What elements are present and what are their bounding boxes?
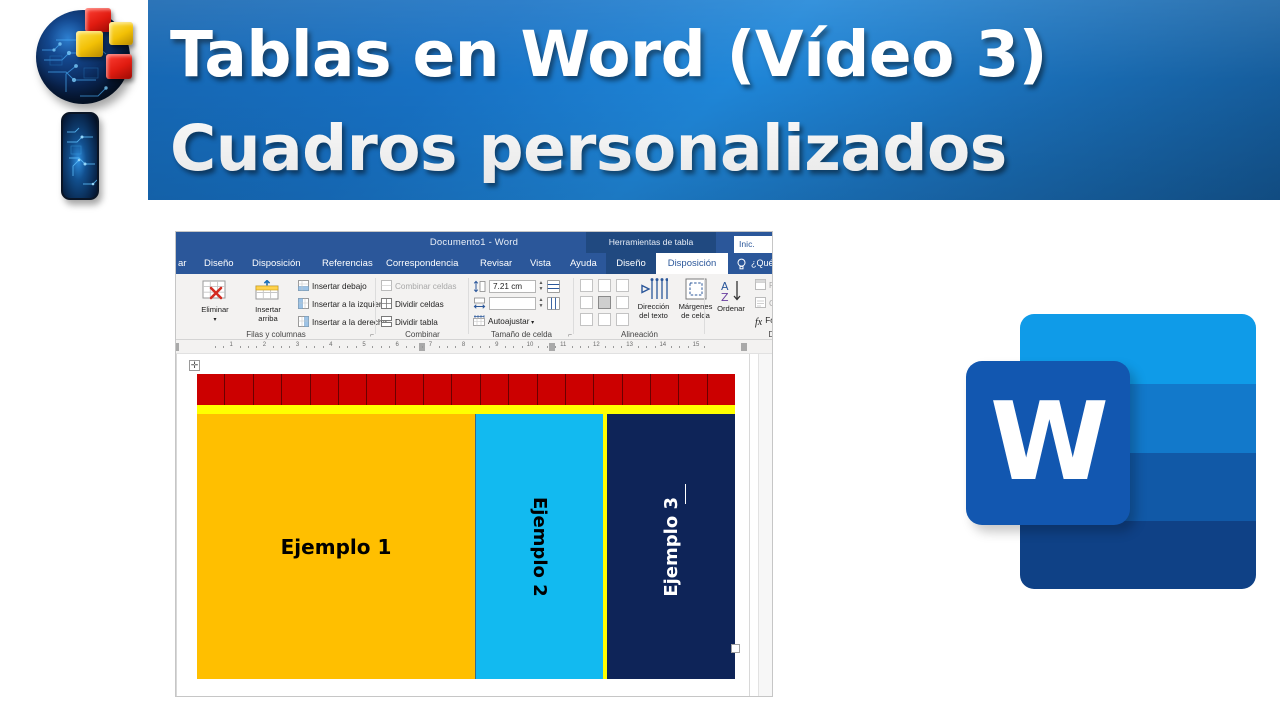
align-middle-left-button[interactable] (580, 296, 593, 309)
ruler-tick-label: 5 (362, 342, 365, 348)
ruler-tick (538, 346, 539, 348)
phone-circuit-pattern-icon (63, 114, 99, 200)
tab-inicio[interactable]: ar (176, 253, 192, 274)
ruler-strip: 123456789101112131415 (176, 340, 772, 354)
table-header-cell[interactable] (566, 374, 594, 405)
banner-title: Tablas en Word (Vídeo 3) Cuadros persona… (170, 8, 1270, 196)
banner-title-line1: Tablas en Word (Vídeo 3) (170, 18, 1047, 91)
ruler-tick (671, 346, 672, 348)
cell-width-input[interactable] (489, 297, 536, 310)
align-top-right-button[interactable] (616, 279, 629, 292)
document-table[interactable]: Ejemplo 1 Ejemplo 2 Ejemplo 3 (197, 374, 735, 679)
split-table-label: Dividir tabla (395, 318, 438, 327)
ruler-tick (422, 346, 423, 348)
ruler-tick-label: 12 (593, 342, 600, 348)
ruler-tick (613, 346, 614, 348)
tab-vista[interactable]: Vista (524, 253, 557, 274)
svg-text:Z: Z (721, 291, 729, 303)
channel-logo (14, 2, 146, 210)
tab-correspondencia[interactable]: Correspondencia (380, 253, 464, 274)
insert-below-label: Insertar debajo (312, 282, 367, 291)
text-cursor (685, 484, 686, 504)
table-header-row[interactable] (197, 374, 735, 405)
autofit-icon (473, 315, 485, 326)
ruler-tick (406, 346, 407, 348)
text-direction-label2: del texto (639, 311, 668, 320)
ruler-tick (240, 346, 241, 348)
ruler-tick (638, 346, 639, 348)
ruler-tick (547, 346, 548, 348)
table-header-cell[interactable] (679, 374, 707, 405)
ruler-tick-label: 15 (693, 342, 700, 348)
banner-title-line2: Cuadros personalizados (170, 102, 1270, 196)
contextual-tools-label: Herramientas de tabla (586, 232, 716, 253)
ruler-tick (223, 346, 224, 348)
autofit-item[interactable]: Autoajustar ▾ (473, 315, 534, 329)
ruler-tick (688, 346, 689, 348)
ruler-tick (605, 346, 606, 348)
ruler-tick (389, 346, 390, 348)
table-header-cell[interactable] (452, 374, 480, 405)
convert-to-text-icon (755, 297, 766, 308)
cell-width-stepper[interactable]: ▲▼ (537, 297, 545, 309)
align-top-left-button[interactable] (580, 279, 593, 292)
table-header-cell[interactable] (651, 374, 679, 405)
ruler-tick (306, 346, 307, 348)
ruler-tick (347, 346, 348, 348)
logo-cube-red-bottom-icon (106, 54, 132, 79)
ruler-tick (489, 346, 490, 348)
ruler-tick-label: 11 (560, 342, 566, 348)
ruler-tick (472, 346, 473, 348)
ruler-tick (480, 346, 481, 348)
merge-cells-icon (381, 280, 392, 291)
split-cells-label: Dividir celdas (395, 300, 444, 309)
table-header-cell[interactable] (282, 374, 310, 405)
formula-icon: fx (755, 317, 762, 329)
convert-to-text-label: Con (769, 299, 772, 308)
ruler-tick (580, 346, 581, 348)
table-header-cell[interactable] (623, 374, 651, 405)
tab-referencias[interactable]: Referencias (316, 253, 379, 274)
table-header-cell[interactable] (481, 374, 509, 405)
ruler-tick (372, 346, 373, 348)
repeat-header-rows-item[interactable]: Repe (755, 279, 772, 292)
insert-right-icon (298, 316, 309, 327)
ruler-tick-label: 1 (230, 342, 233, 348)
table-resize-handle[interactable] (731, 644, 740, 653)
logo-cube-red-top-icon (85, 8, 111, 32)
ruler-tick-label: 6 (396, 342, 399, 348)
logo-cube-yellow-left-icon (76, 31, 103, 57)
ruler-tick (281, 346, 282, 348)
ruler-tick (621, 346, 622, 348)
screenshot-root: Tablas en Word (Vídeo 3) Cuadros persona… (0, 0, 1280, 720)
ruler-tick (314, 346, 315, 348)
table-cell-2-text: Ejemplo 2 (529, 497, 550, 597)
ruler-tick (323, 346, 324, 348)
align-top-center-button[interactable] (598, 279, 611, 292)
ruler-tick (256, 346, 257, 348)
merge-cells-item[interactable]: Combinar celdas (381, 280, 456, 293)
table-divider-row[interactable] (197, 405, 735, 414)
table-cell-3-text: Ejemplo 3 (661, 497, 682, 597)
delete-button-label: Eliminar (201, 305, 228, 314)
autofit-label: Autoajustar (488, 317, 529, 326)
ruler-tick (273, 346, 274, 348)
ruler-tick-label: 3 (296, 342, 299, 348)
ribbon-group-filas-y-columnas: Eliminar ▾ Insertar arriba (176, 274, 376, 340)
distribute-rows-icon[interactable] (547, 280, 560, 293)
formula-label: Fórm (765, 316, 772, 325)
logo-phone-icon (61, 112, 99, 200)
table-cell-ejemplo-3[interactable]: Ejemplo 3 (603, 414, 735, 679)
repeat-header-rows-icon (755, 279, 766, 290)
ruler-tick-label: 9 (495, 342, 498, 348)
ribbon-tab-bar: ar Diseño Disposición Referencias Corres… (176, 253, 772, 274)
ruler-tick-label: 10 (527, 342, 534, 348)
ruler-tick-label: 8 (462, 342, 465, 348)
row-height-icon[interactable] (473, 280, 486, 293)
group-label-filas-y-columnas: Filas y columnas (176, 330, 376, 339)
word-application-window: Documento1 - Word Herramientas de tabla … (176, 232, 772, 696)
ruler-tick (447, 346, 448, 348)
align-middle-center-button[interactable] (598, 296, 611, 309)
group-label-combinar: Combinar (376, 330, 469, 339)
insert-above-label2: arriba (258, 314, 277, 323)
text-direction-button[interactable]: Dirección del texto (632, 277, 675, 320)
page-right-margin-line (749, 354, 750, 696)
ribbon-group-alineacion: Dirección del texto Márgenes de celda Al… (574, 274, 705, 340)
table-header-cell[interactable] (197, 374, 225, 405)
table-header-cell[interactable] (396, 374, 424, 405)
ruler-tick (381, 346, 382, 348)
sort-button[interactable]: A Z Ordenar (709, 279, 753, 314)
insert-below-item[interactable]: Insertar debajo (298, 280, 367, 293)
ruler-tick (289, 346, 290, 348)
formula-item[interactable]: fxFórm (755, 315, 772, 329)
ruler-tick (339, 346, 340, 348)
document-page-area: ✛ Ejemplo 1 Ejemplo 2 Ejemplo 3 (176, 354, 772, 696)
tab-tabla-diseno[interactable]: Diseño (606, 253, 656, 274)
ruler-tick (505, 346, 506, 348)
table-content-row[interactable]: Ejemplo 1 Ejemplo 2 Ejemplo 3 (197, 414, 735, 679)
align-bottom-left-button[interactable] (580, 313, 593, 326)
vertical-scrollbar[interactable] (758, 354, 772, 696)
table-header-cell[interactable] (594, 374, 622, 405)
ruler-tick (572, 346, 573, 348)
ruler-tick (555, 346, 556, 348)
lightbulb-icon (736, 258, 747, 270)
insert-right-item[interactable]: Insertar a la derecha (298, 316, 387, 329)
align-bottom-right-button[interactable] (616, 313, 629, 326)
tab-tabla-disposicion[interactable]: Disposición (656, 253, 728, 274)
ruler-tick (248, 346, 249, 348)
align-middle-right-button[interactable] (616, 296, 629, 309)
ribbon: Eliminar ▾ Insertar arriba (176, 274, 772, 340)
horizontal-ruler[interactable]: 123456789101112131415 (176, 340, 772, 354)
table-header-cell[interactable] (367, 374, 395, 405)
filas-columnas-dialog-launcher[interactable]: ⌐ (370, 332, 374, 339)
ruler-tick-label: 14 (659, 342, 666, 348)
table-header-cell[interactable] (254, 374, 282, 405)
sign-in-button[interactable]: Inic. (734, 236, 772, 253)
table-move-handle[interactable]: ✛ (189, 360, 200, 371)
ruler-tick (455, 346, 456, 348)
ruler-tick-label: 2 (263, 342, 266, 348)
cell-height-input[interactable]: 7.21 cm (489, 280, 536, 293)
tell-me-box[interactable]: ¿Qué desea ha (751, 253, 772, 274)
cell-height-stepper[interactable]: ▲▼ (537, 280, 545, 292)
video-title-banner: Tablas en Word (Vídeo 3) Cuadros persona… (148, 0, 1280, 200)
word-icon-tile: W (966, 361, 1130, 525)
column-width-icon[interactable] (473, 297, 486, 310)
tab-diseno[interactable]: Diseño (198, 253, 240, 274)
distribute-columns-icon[interactable] (547, 297, 560, 310)
ruler-tick-label: 4 (329, 342, 332, 348)
insert-above-button[interactable]: Insertar arriba (244, 280, 292, 323)
table-header-cell[interactable] (424, 374, 452, 405)
table-header-cell[interactable] (708, 374, 735, 405)
split-cells-icon (381, 298, 392, 309)
group-label-alineacion: Alineación (574, 330, 705, 339)
ribbon-group-datos: A Z Ordenar Repe Con (705, 274, 772, 340)
tab-revisar[interactable]: Revisar (474, 253, 518, 274)
ruler-tick (588, 346, 589, 348)
ruler-tick (679, 346, 680, 348)
logo-cube-yellow-right-icon (109, 22, 133, 45)
sort-button-label: Ordenar (717, 304, 745, 313)
table-header-cell[interactable] (225, 374, 253, 405)
ruler-tick (646, 346, 647, 348)
ruler-tick-label: 7 (429, 342, 432, 348)
sort-az-icon: A Z (717, 279, 745, 303)
word-icon-letter: W (990, 389, 1106, 497)
ruler-tick (655, 346, 656, 348)
delete-table-icon (202, 280, 228, 304)
table-header-cell[interactable] (538, 374, 566, 405)
insert-above-icon (255, 280, 281, 304)
word-title-bar: Documento1 - Word Herramientas de tabla … (176, 232, 772, 253)
word-app-icon: W (966, 314, 1256, 589)
table-header-cell[interactable] (311, 374, 339, 405)
ruler-tick (704, 346, 705, 348)
split-table-item[interactable]: Dividir tabla (381, 316, 438, 329)
tamano-celda-dialog-launcher[interactable]: ⌐ (568, 332, 572, 339)
tab-ayuda[interactable]: Ayuda (564, 253, 603, 274)
table-cell-ejemplo-1[interactable]: Ejemplo 1 (197, 414, 475, 679)
delete-button[interactable]: Eliminar ▾ (190, 280, 240, 324)
ruler-tick (522, 346, 523, 348)
table-header-cell[interactable] (509, 374, 537, 405)
ribbon-group-tamano-de-celda: 7.21 cm ▲▼ ▲▼ (469, 274, 574, 340)
page-left-margin-line (176, 354, 177, 696)
ruler-tick-label: 13 (626, 342, 633, 348)
ruler-tick (414, 346, 415, 348)
text-direction-icon (640, 277, 668, 301)
word-icon-band-4 (1020, 521, 1256, 589)
ruler-tick (356, 346, 357, 348)
align-bottom-center-button[interactable] (598, 313, 611, 326)
insert-left-icon (298, 298, 309, 309)
split-cells-item[interactable]: Dividir celdas (381, 298, 444, 311)
merge-cells-label: Combinar celdas (395, 282, 456, 291)
split-table-icon (381, 316, 392, 327)
ruler-tick (215, 346, 216, 348)
convert-to-text-item[interactable]: Con (755, 297, 772, 310)
tab-disposicion[interactable]: Disposición (246, 253, 307, 274)
ruler-indent-marker[interactable] (176, 343, 179, 351)
table-header-cell[interactable] (339, 374, 367, 405)
ribbon-group-combinar: Combinar celdas Dividir celdas Dividir t… (376, 274, 469, 340)
ruler-tick (513, 346, 514, 348)
group-label-datos: Dat (769, 330, 772, 339)
delete-button-chevron: ▾ (213, 317, 216, 323)
table-cell-ejemplo-2[interactable]: Ejemplo 2 (475, 414, 603, 679)
ruler-tick (439, 346, 440, 348)
group-label-tamano-de-celda: Tamaño de celda (469, 330, 574, 339)
ruler-indent-marker[interactable] (741, 343, 747, 351)
repeat-header-rows-label: Repe (769, 281, 772, 290)
table-cell-1-text: Ejemplo 1 (281, 535, 392, 559)
insert-below-icon (298, 280, 309, 291)
